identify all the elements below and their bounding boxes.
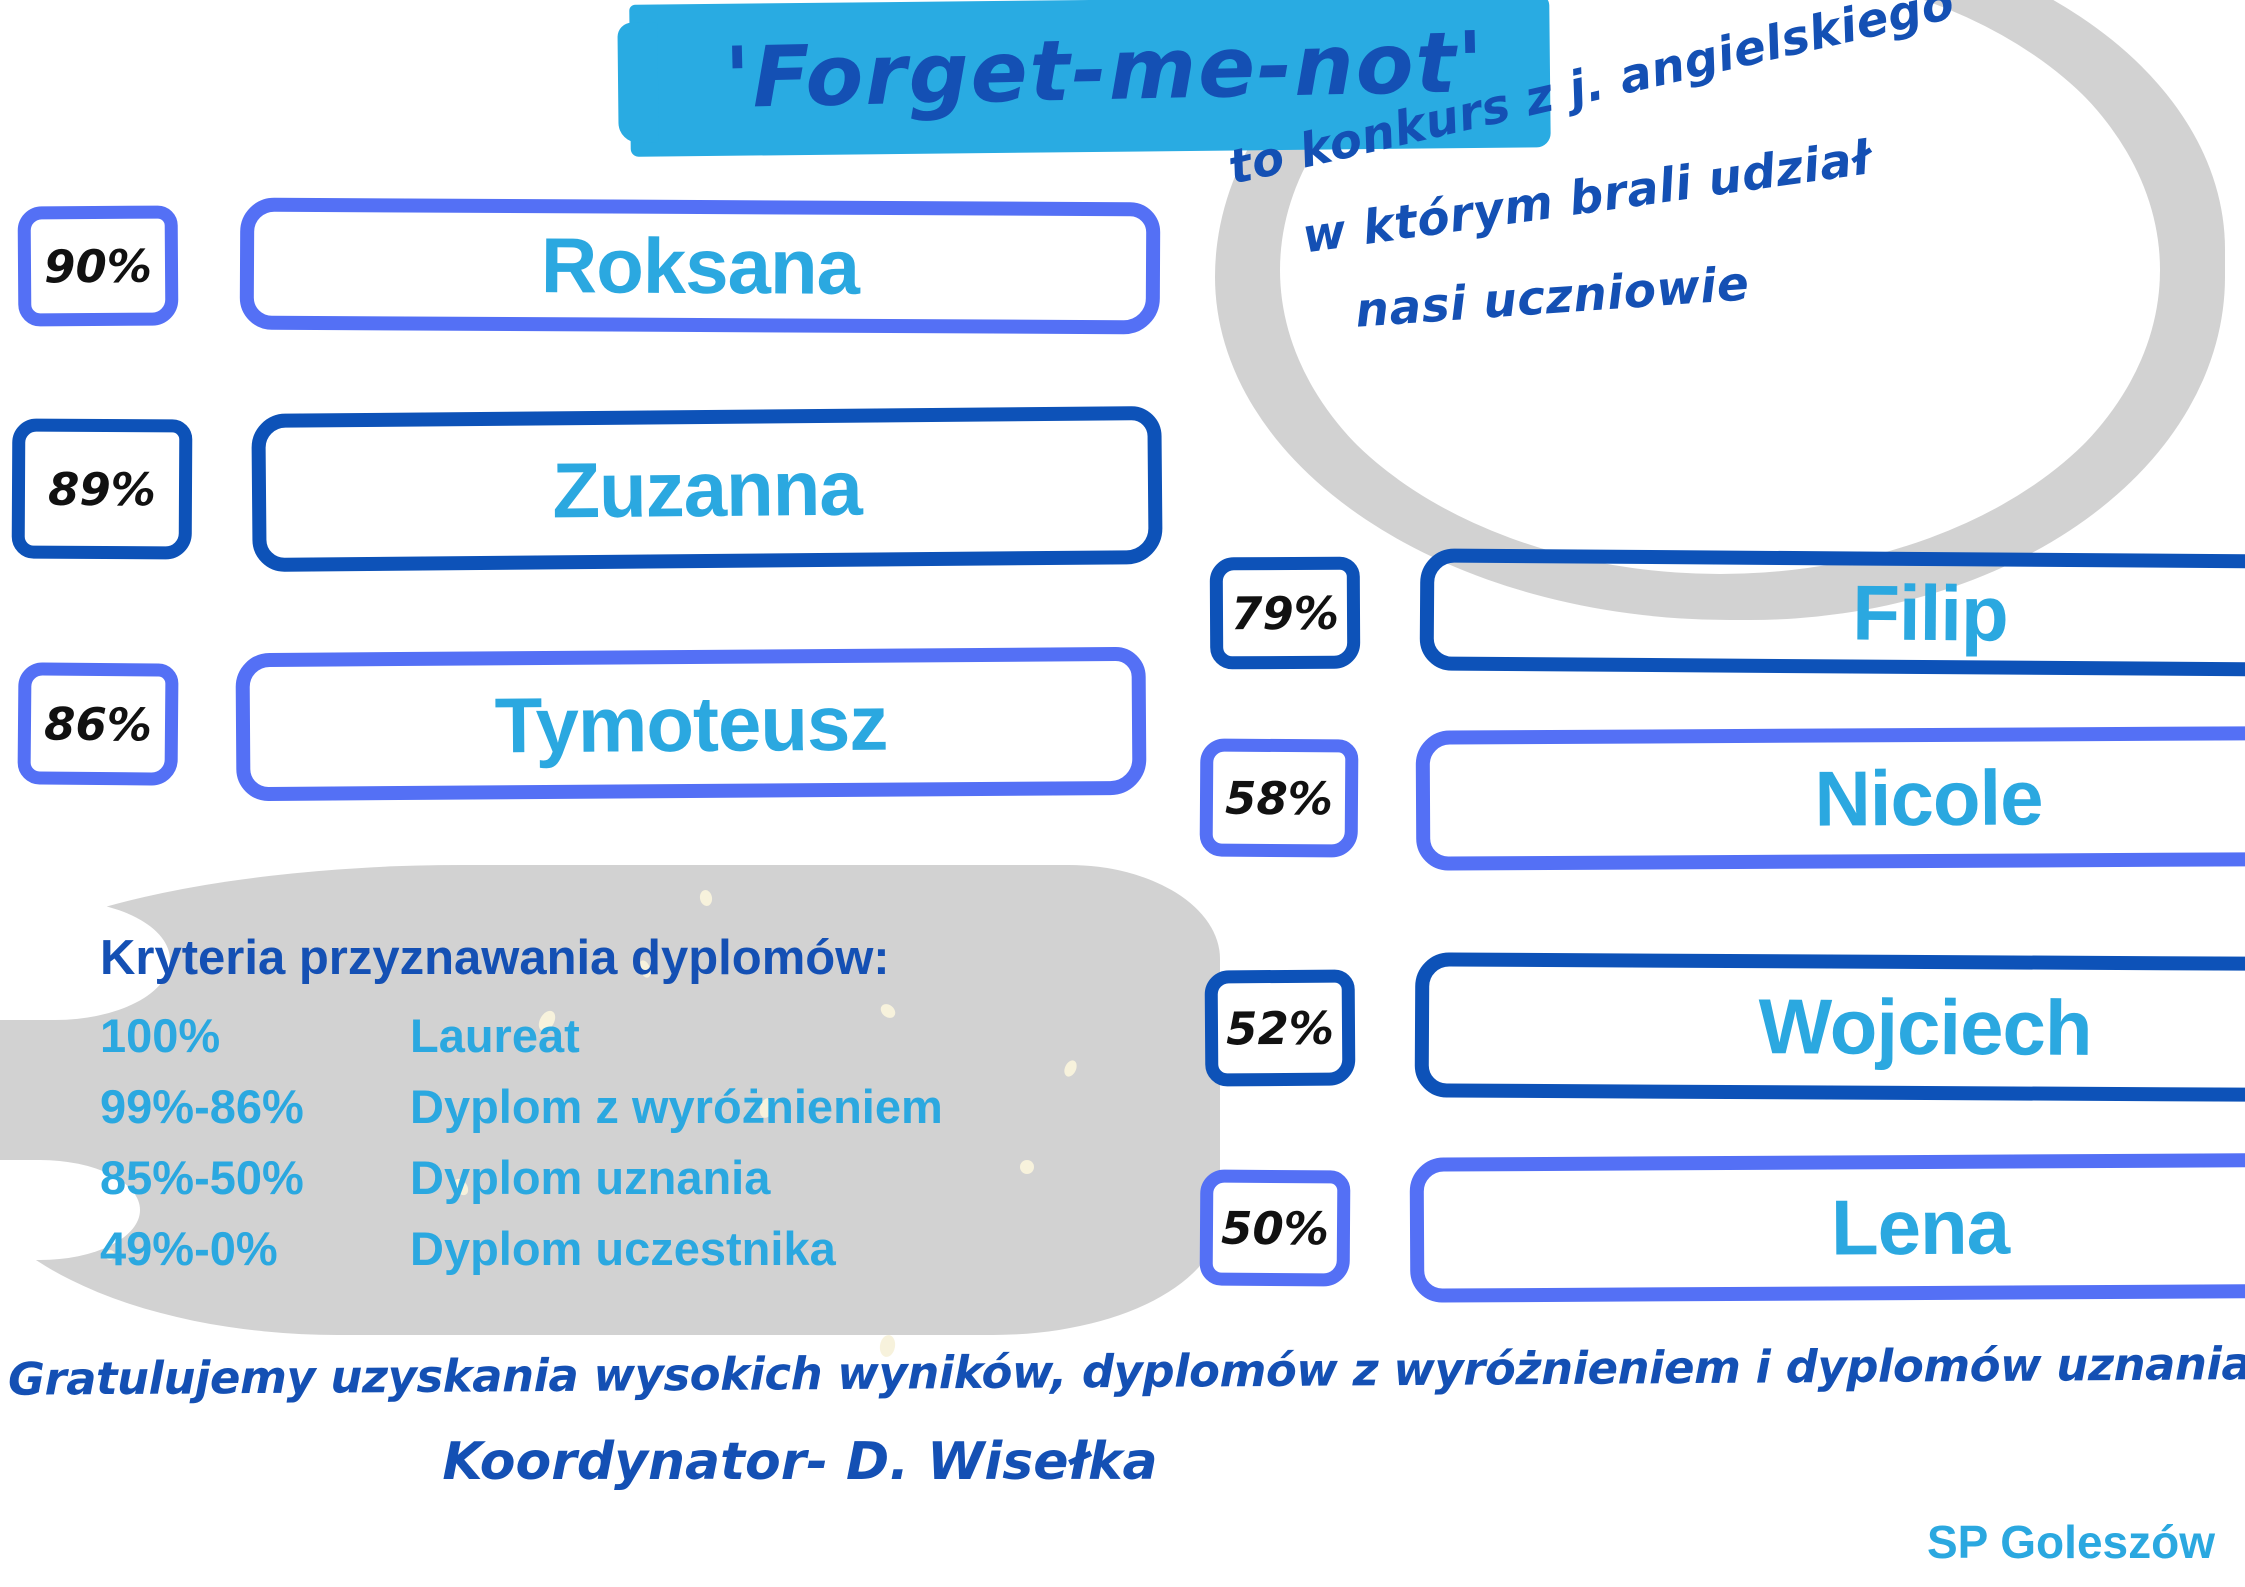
name-box: Filip bbox=[1420, 548, 2245, 677]
result-row-filip: 79% Filip bbox=[1210, 552, 2245, 674]
student-name: Nicole bbox=[1814, 752, 2043, 844]
criteria-label: Laureat bbox=[410, 1008, 580, 1063]
criteria-range: 49%-0% bbox=[100, 1221, 410, 1276]
percent-badge: 50% bbox=[1200, 1169, 1351, 1286]
name-box: Roksana bbox=[240, 198, 1161, 335]
intro-line-3: nasi uczniowie bbox=[1354, 256, 1751, 338]
criteria-range: 99%-86% bbox=[100, 1079, 410, 1134]
criteria-label: Dyplom uczestnika bbox=[410, 1221, 836, 1276]
percent-badge: 79% bbox=[1210, 557, 1361, 670]
result-row-wojciech: 52% Wojciech bbox=[1205, 955, 2245, 1100]
criteria-title: Kryteria przyznawania dyplomów: bbox=[100, 930, 1140, 986]
name-box: Wojciech bbox=[1415, 952, 2245, 1102]
result-row-roksana: 90% Roksana bbox=[18, 200, 1160, 332]
name-box: Lena bbox=[1410, 1152, 2245, 1302]
criteria-row: 99%-86% Dyplom z wyróżnieniem bbox=[100, 1079, 1140, 1134]
confetti-fleck bbox=[699, 889, 714, 907]
criteria-row: 85%-50% Dyplom uznania bbox=[100, 1150, 1140, 1205]
intro-block: to konkurs z j. angielskiego w którym br… bbox=[1190, 20, 2210, 440]
criteria-label: Dyplom z wyróżnieniem bbox=[410, 1079, 943, 1134]
criteria-range: 100% bbox=[100, 1008, 410, 1063]
percent-badge: 90% bbox=[18, 205, 179, 326]
student-name: Tymoteusz bbox=[494, 677, 887, 771]
school-name: SP Goleszów bbox=[1927, 1515, 2215, 1569]
criteria-row: 100% Laureat bbox=[100, 1008, 1140, 1063]
percent-badge: 52% bbox=[1205, 969, 1356, 1086]
percent-badge: 86% bbox=[17, 662, 178, 785]
poster-canvas: 'Forget-me-not' to konkurs z j. angielsk… bbox=[0, 0, 2245, 1587]
criteria-range: 85%-50% bbox=[100, 1150, 410, 1205]
name-box: Zuzanna bbox=[251, 406, 1162, 572]
result-row-tymoteusz: 86% Tymoteusz bbox=[18, 650, 1146, 798]
criteria-row: 49%-0% Dyplom uczestnika bbox=[100, 1221, 1140, 1276]
result-row-zuzanna: 89% Zuzanna bbox=[12, 410, 1162, 568]
name-box: Tymoteusz bbox=[235, 647, 1146, 801]
student-name: Wojciech bbox=[1758, 981, 2091, 1074]
student-name: Filip bbox=[1852, 567, 2008, 659]
coordinator-text: Koordynator- D. Wisełka bbox=[0, 1432, 1600, 1492]
congratulations-text: Gratulujemy uzyskania wysokich wyników, … bbox=[8, 1337, 2238, 1406]
result-row-nicole: 58% Nicole bbox=[1200, 728, 2245, 868]
percent-badge: 89% bbox=[12, 419, 193, 560]
criteria-panel: Kryteria przyznawania dyplomów: 100% Lau… bbox=[100, 930, 1140, 1292]
student-name: Zuzanna bbox=[552, 442, 862, 536]
criteria-label: Dyplom uznania bbox=[410, 1150, 770, 1205]
percent-badge: 58% bbox=[1200, 738, 1359, 857]
student-name: Lena bbox=[1831, 1182, 2010, 1274]
name-box: Nicole bbox=[1416, 725, 2245, 870]
result-row-lena: 50% Lena bbox=[1200, 1155, 2245, 1300]
student-name: Roksana bbox=[541, 220, 860, 313]
